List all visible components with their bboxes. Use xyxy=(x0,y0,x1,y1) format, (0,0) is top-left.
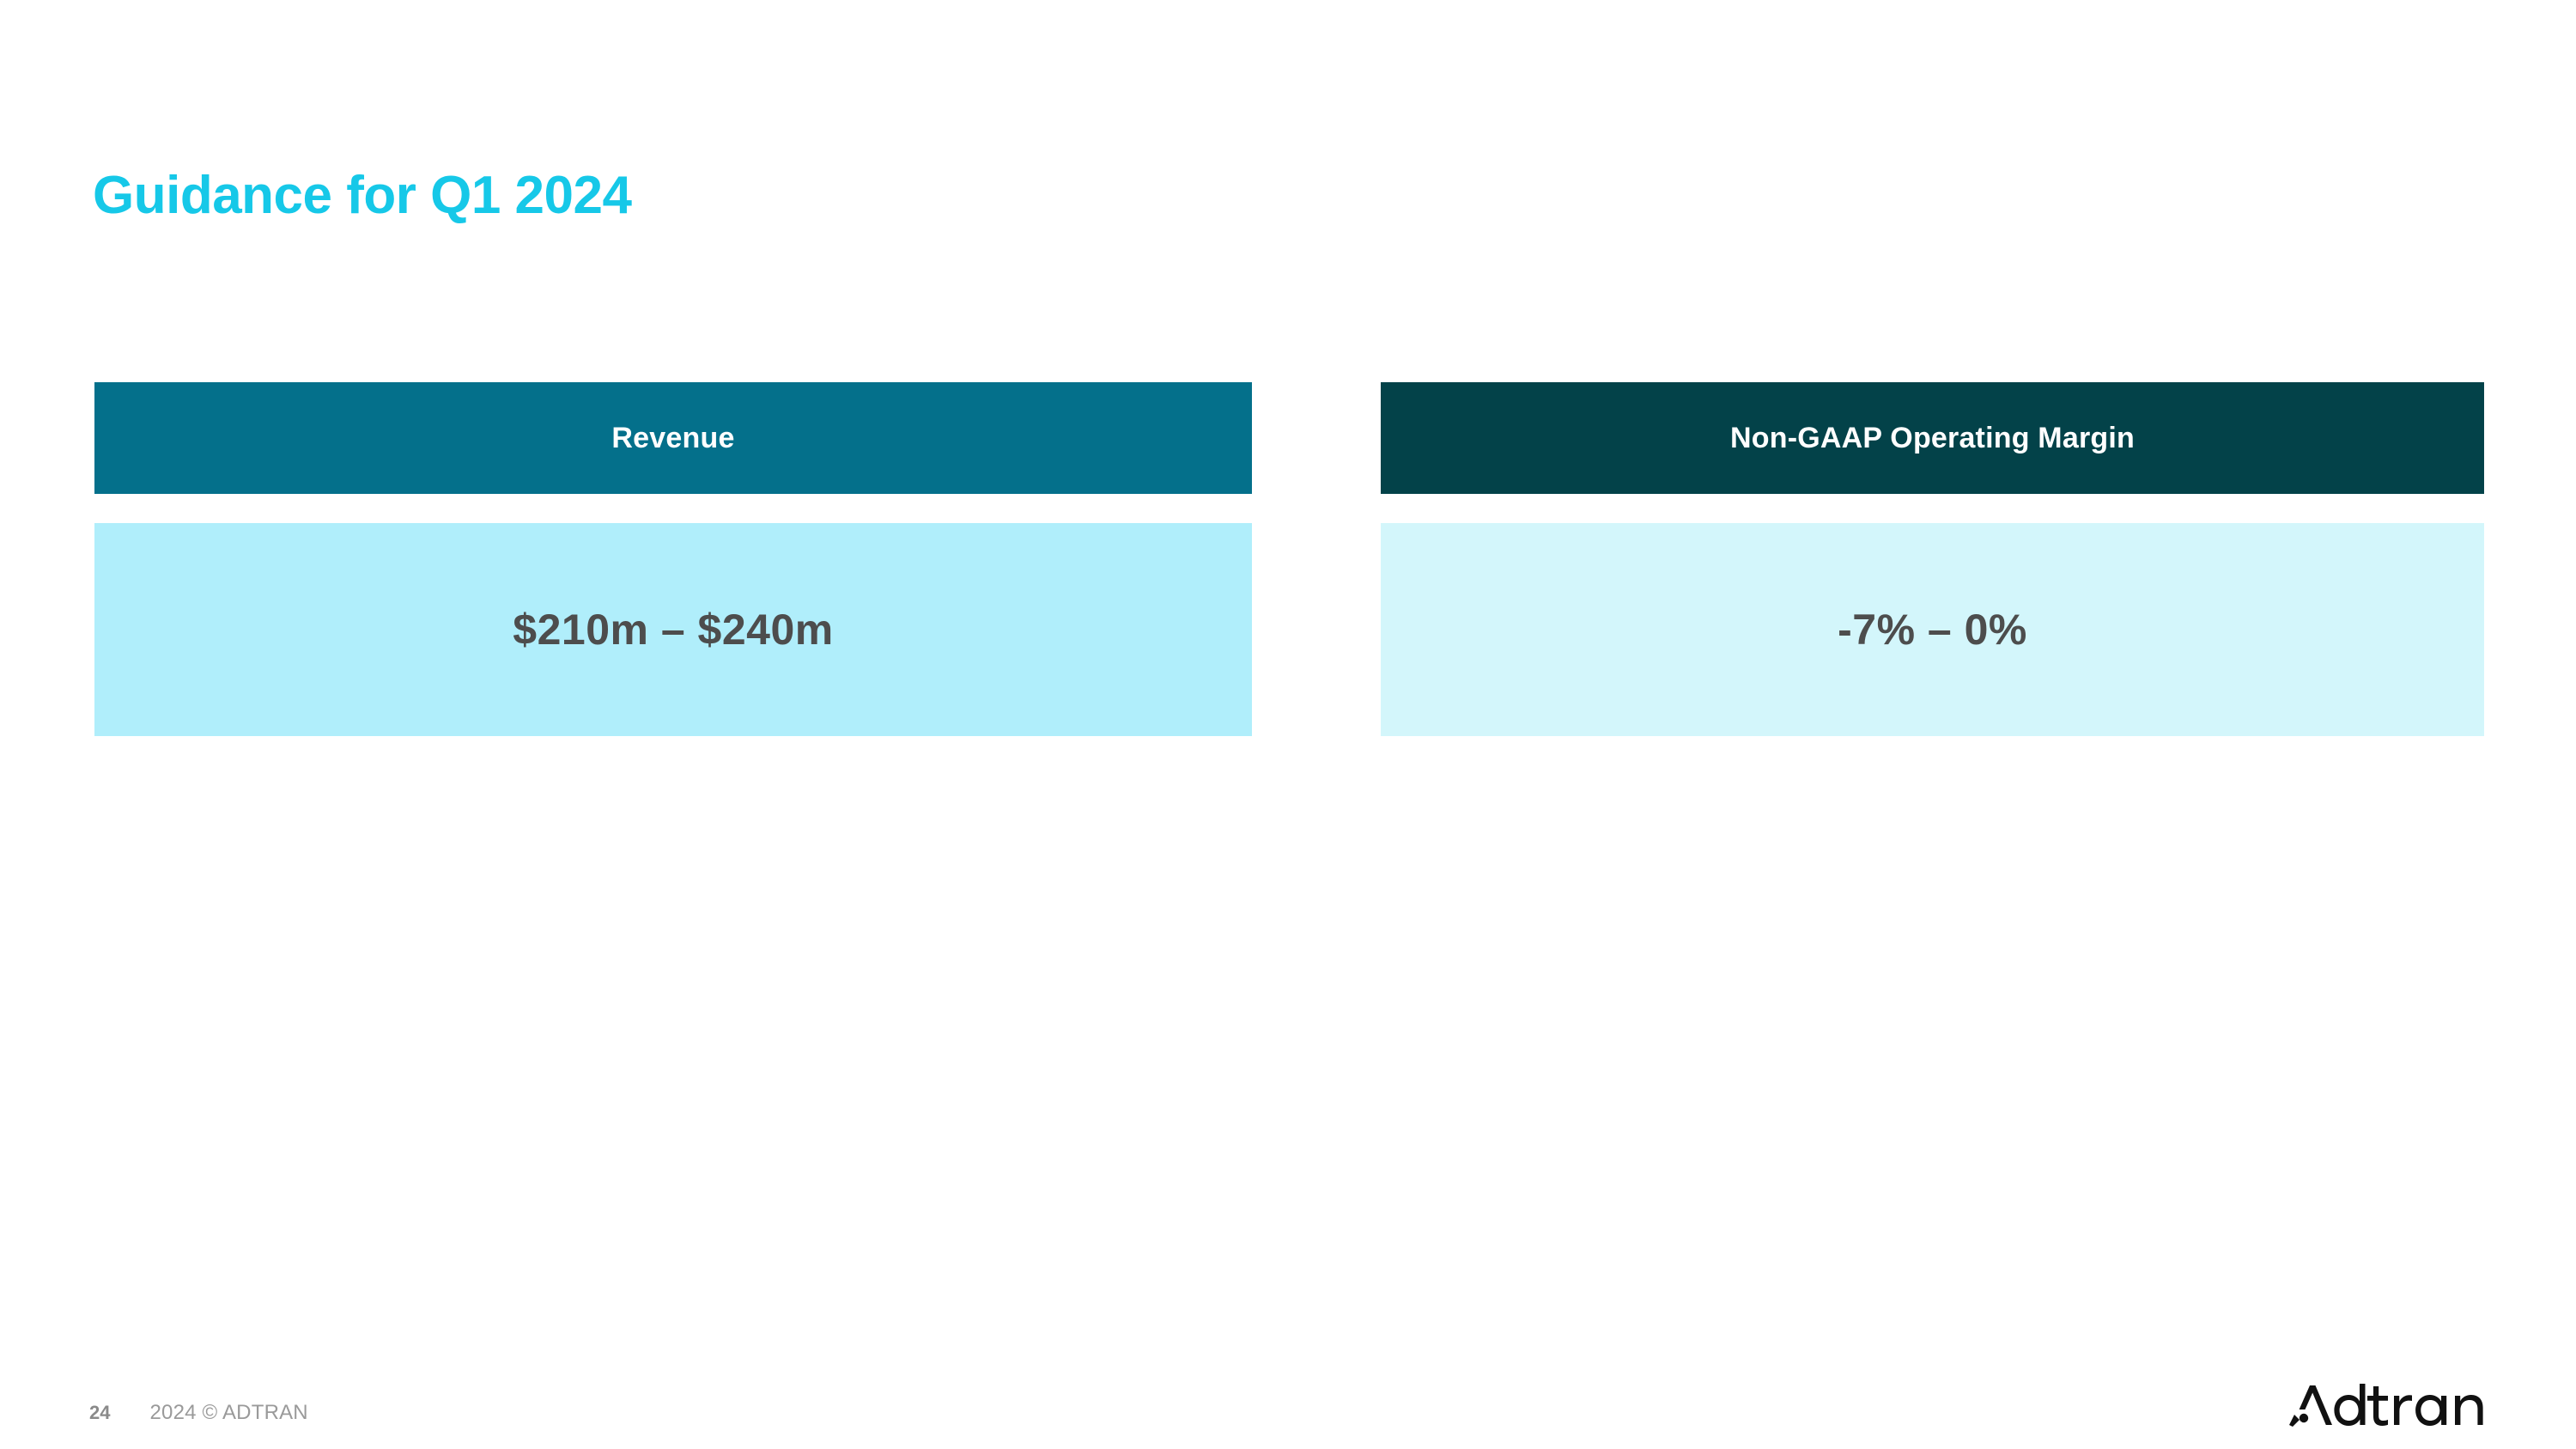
page-number: 24 xyxy=(89,1402,110,1424)
card-header-non-gaap-operating-margin: Non-GAAP Operating Margin xyxy=(1381,382,2484,494)
copyright-text: 2024 © ADTRAN xyxy=(149,1401,307,1425)
guidance-card-revenue: Revenue $210m – $240m xyxy=(94,382,1252,736)
card-value: $210m – $240m xyxy=(513,605,833,654)
card-body-revenue: $210m – $240m xyxy=(94,523,1252,736)
card-body-non-gaap-operating-margin: -7% – 0% xyxy=(1381,523,2484,736)
guidance-card-non-gaap-operating-margin: Non-GAAP Operating Margin -7% – 0% xyxy=(1381,382,2484,736)
slide-footer: 24 2024 © ADTRAN xyxy=(89,1401,308,1425)
card-header-label: Revenue xyxy=(611,422,734,455)
adtran-logo-icon xyxy=(2284,1380,2483,1430)
slide-canvas: Guidance for Q1 2024 Revenue $210m – $24… xyxy=(0,0,2576,1449)
card-value: -7% – 0% xyxy=(1838,605,2027,654)
page-title: Guidance for Q1 2024 xyxy=(93,165,631,226)
card-header-revenue: Revenue xyxy=(94,382,1252,494)
card-header-label: Non-GAAP Operating Margin xyxy=(1730,422,2135,455)
